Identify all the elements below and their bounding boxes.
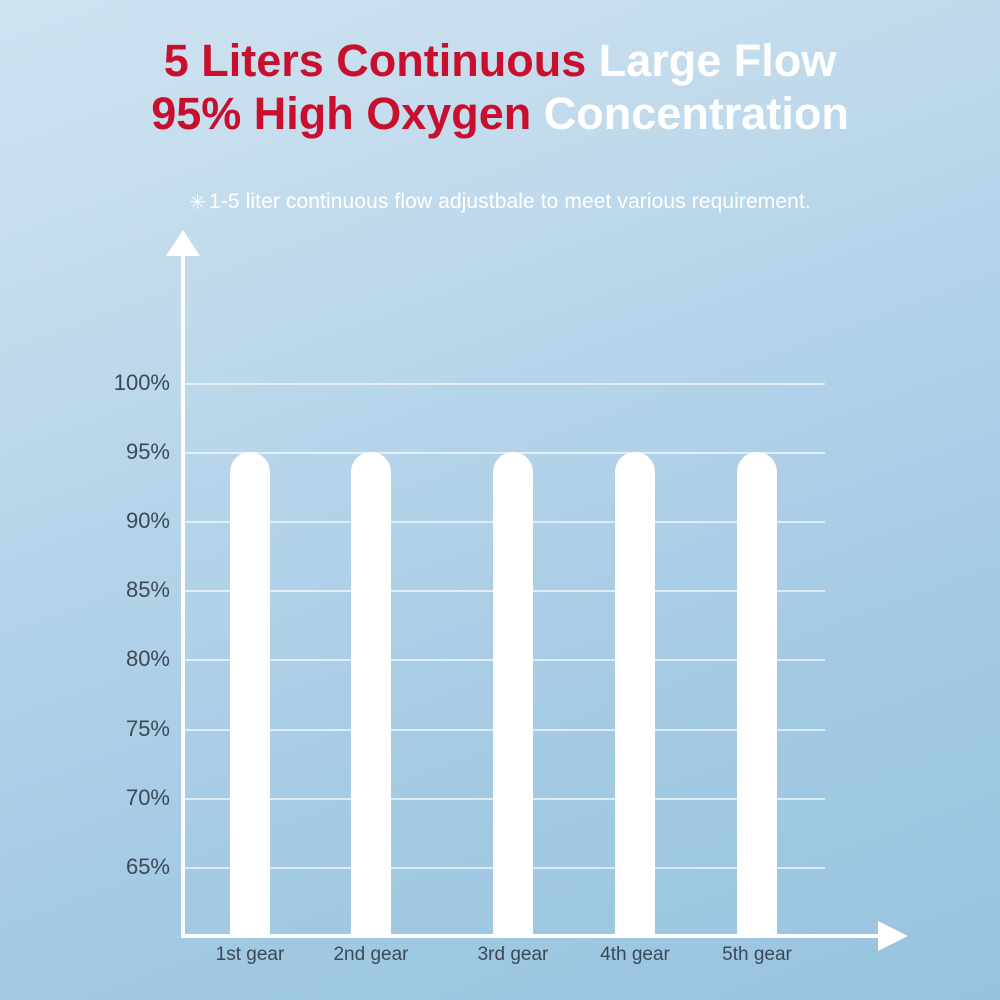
y-axis-line — [181, 248, 185, 938]
y-tick-label: 100% — [90, 370, 170, 396]
y-tick-label: 85% — [90, 577, 170, 603]
bar — [737, 452, 777, 936]
x-tick-label: 1st gear — [180, 944, 320, 966]
x-tick-label: 2nd gear — [301, 944, 441, 966]
headline-line-2-red: 95% High Oxygen — [151, 88, 531, 139]
y-tick-label: 90% — [90, 508, 170, 534]
gridline — [185, 383, 825, 385]
y-tick-label: 75% — [90, 716, 170, 742]
y-axis-arrow-icon — [166, 230, 200, 256]
headline-line-1-red: 5 Liters Continuous — [164, 35, 587, 86]
bar — [493, 452, 533, 936]
subtitle: ✳1-5 liter continuous flow adjustbale to… — [0, 190, 1000, 215]
y-tick-label: 65% — [90, 854, 170, 880]
asterisk-icon: ✳ — [189, 192, 206, 214]
bar-chart: 65%70%75%80%85%90%95%100% 1st gear2nd ge… — [0, 230, 1000, 990]
y-tick-label: 95% — [90, 439, 170, 465]
x-tick-label: 5th gear — [687, 944, 827, 966]
y-tick-label: 70% — [90, 785, 170, 811]
bar — [230, 452, 270, 936]
x-tick-label: 4th gear — [565, 944, 705, 966]
subtitle-text: 1-5 liter continuous flow adjustbale to … — [209, 190, 811, 213]
headline-line-2: 95% High Oxygen Concentration — [0, 87, 1000, 140]
x-axis-arrow-icon — [878, 921, 908, 951]
bar — [615, 452, 655, 936]
x-tick-label: 3rd gear — [443, 944, 583, 966]
headline-line-1: 5 Liters Continuous Large Flow — [0, 34, 1000, 87]
headline: 5 Liters Continuous Large Flow 95% High … — [0, 34, 1000, 140]
y-tick-label: 80% — [90, 646, 170, 672]
headline-line-1-white: Large Flow — [586, 35, 836, 86]
bar — [351, 452, 391, 936]
infographic-page: 5 Liters Continuous Large Flow 95% High … — [0, 0, 1000, 1000]
headline-line-2-white: Concentration — [531, 88, 849, 139]
